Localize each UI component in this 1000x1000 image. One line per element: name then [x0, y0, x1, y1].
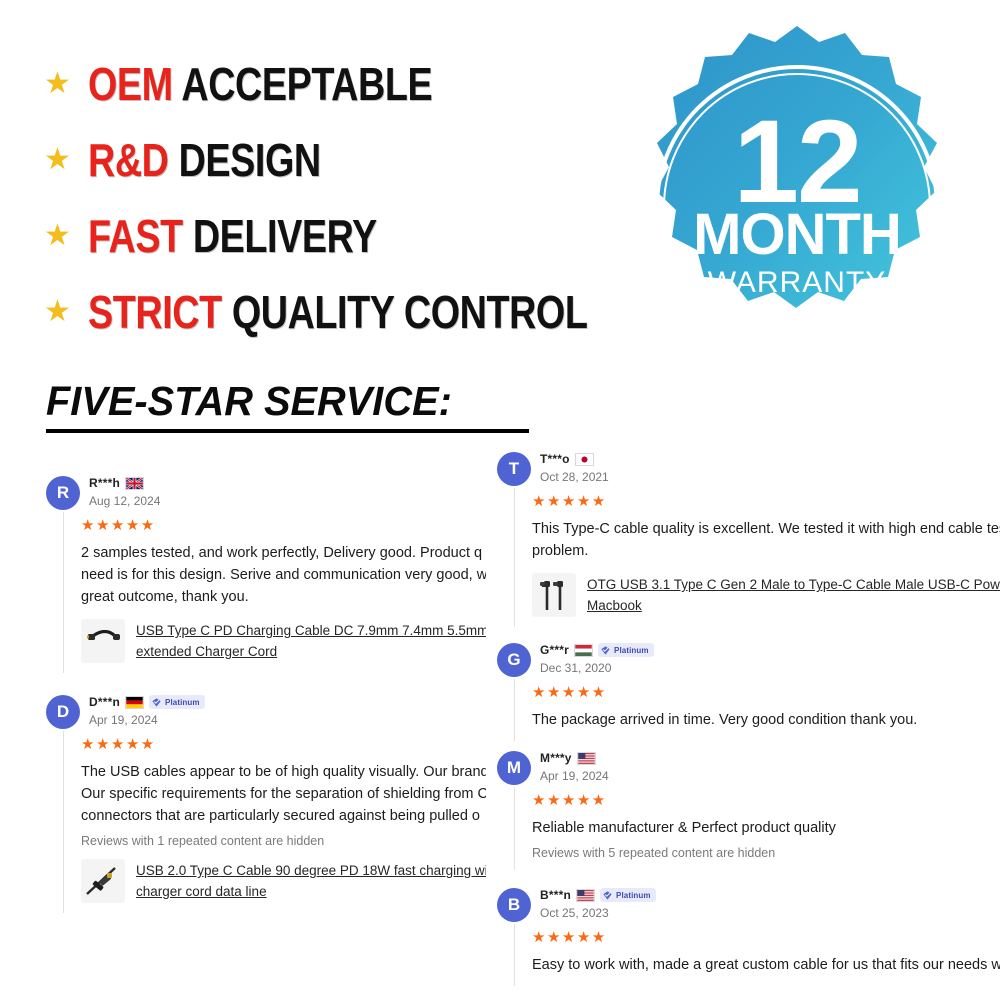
badge-period: MONTH — [693, 202, 901, 267]
review-date: Apr 19, 2024 — [89, 713, 205, 727]
gold-star-icon: ★ — [44, 145, 88, 175]
review-card[interactable]: G G***r Platinum Dec 31, 2020 — [497, 635, 1000, 741]
platinum-label: Platinum — [616, 891, 651, 900]
review-card[interactable]: M M***y Apr 19, 2024 ★★★★★ Reliable manu… — [497, 743, 1000, 870]
review-body: ★★★★★ 2 samples tested, and work perfect… — [63, 512, 486, 673]
product-link[interactable]: USB Type C PD Charging Cable DC 7.9mm 7.… — [136, 619, 486, 662]
product-link[interactable]: OTG USB 3.1 Type C Gen 2 Male to Type-C … — [587, 573, 1000, 616]
feature-bullet-list: ★ OEM ACCEPTABLE ★ R&D DESIGN ★ FAST DEL… — [44, 46, 644, 350]
reviewer-meta: G***r Platinum Dec 31, 2020 — [540, 641, 654, 675]
avatar: D — [46, 695, 80, 729]
feature-bullet-highlight: R&D — [88, 134, 169, 186]
reviewer-meta: T***o Oct 28, 2021 — [540, 450, 609, 484]
title-underline — [46, 429, 529, 433]
review-body: ★★★★★ This Type-C cable quality is excel… — [514, 488, 1000, 627]
gold-star-icon: ★ — [44, 297, 88, 327]
avatar: G — [497, 643, 531, 677]
platinum-badge: Platinum — [600, 888, 656, 902]
reviewer-name-line: T***o — [540, 451, 609, 467]
avatar: R — [46, 476, 80, 510]
platinum-diamond-icon — [602, 890, 613, 901]
reviewer-name-line: B***n Platinum — [540, 887, 656, 903]
feature-bullet-highlight: FAST — [88, 210, 183, 262]
reviewer-name: B***n — [540, 888, 571, 902]
hu-flag-icon — [574, 644, 593, 657]
reviewer-name-line: R***h — [89, 475, 160, 491]
gb-flag-icon — [125, 477, 144, 490]
angled-usbc-cable-icon — [81, 859, 125, 903]
review-date: Oct 28, 2021 — [540, 470, 609, 484]
review-body: ★★★★★ Reliable manufacturer & Perfect pr… — [514, 787, 1000, 870]
feature-bullet-text: OEM ACCEPTABLE — [88, 57, 432, 111]
review-header: G G***r Platinum Dec 31, 2020 — [497, 635, 1000, 679]
reviewer-name-line: G***r Platinum — [540, 642, 654, 658]
platinum-diamond-icon — [151, 697, 162, 708]
review-body: ★★★★★ The USB cables appear to be of hig… — [63, 731, 486, 913]
feature-bullet-rest: QUALITY CONTROL — [232, 286, 588, 338]
review-date: Dec 31, 2020 — [540, 661, 654, 675]
review-header: T T***o Oct 28, 2021 — [497, 444, 1000, 488]
avatar: M — [497, 751, 531, 785]
reviewed-product[interactable]: USB 2.0 Type C Cable 90 degree PD 18W fa… — [81, 848, 486, 903]
gold-star-icon: ★ — [44, 221, 88, 251]
review-card[interactable]: T T***o Oct 28, 2021 ★★★★★ This Type-C c… — [497, 444, 1000, 627]
reviewer-name-line: D***n Platinum — [89, 694, 205, 710]
feature-bullet-rest: DESIGN — [179, 134, 321, 186]
review-header: B B***n Platinum Oct 25, 2023 — [497, 880, 1000, 924]
review-header: D D***n Platinum Apr 19, 2024 — [46, 687, 486, 731]
star-rating: ★★★★★ — [81, 731, 486, 761]
feature-bullet-highlight: STRICT — [88, 286, 222, 338]
reviewer-name-line: M***y — [540, 750, 609, 766]
feature-bullet: ★ FAST DELIVERY — [44, 198, 644, 274]
feature-bullet-rest: DELIVERY — [193, 210, 377, 262]
reviews-section: R R***h Aug 12, 2024 ★★★★★ 2 samples tes… — [0, 440, 1000, 1000]
review-card[interactable]: B B***n Platinum Oct 25, 2023 — [497, 880, 1000, 986]
feature-bullet: ★ R&D DESIGN — [44, 122, 644, 198]
reviewer-meta: R***h Aug 12, 2024 — [89, 474, 160, 508]
star-rating: ★★★★★ — [532, 679, 1000, 709]
hidden-reviews-note: Reviews with 1 repeated content are hidd… — [81, 827, 486, 848]
feature-bullet-rest: ACCEPTABLE — [181, 58, 432, 110]
review-date: Apr 19, 2024 — [540, 769, 609, 783]
feature-bullet-text: R&D DESIGN — [88, 133, 321, 187]
avatar: B — [497, 888, 531, 922]
review-card[interactable]: D D***n Platinum Apr 19, 2024 — [46, 687, 486, 913]
reviewer-meta: M***y Apr 19, 2024 — [540, 749, 609, 783]
feature-bullet: ★ OEM ACCEPTABLE — [44, 46, 644, 122]
reviewed-product[interactable]: USB Type C PD Charging Cable DC 7.9mm 7.… — [81, 608, 486, 663]
avatar: T — [497, 452, 531, 486]
feature-bullet-highlight: OEM — [88, 58, 173, 110]
star-rating: ★★★★★ — [532, 924, 1000, 954]
review-text: Easy to work with, made a great custom c… — [532, 954, 1000, 976]
reviewed-product[interactable]: OTG USB 3.1 Type C Gen 2 Male to Type-C … — [532, 562, 1000, 617]
badge-warranty-label: WARRANTY — [708, 266, 887, 299]
dc-barrel-cable-icon — [81, 619, 125, 663]
reviewer-name: R***h — [89, 476, 120, 490]
star-rating: ★★★★★ — [532, 787, 1000, 817]
platinum-badge: Platinum — [149, 695, 205, 709]
reviewer-name: D***n — [89, 695, 120, 709]
promo-banner-page: ★ OEM ACCEPTABLE ★ R&D DESIGN ★ FAST DEL… — [0, 0, 1000, 1000]
platinum-badge: Platinum — [598, 643, 654, 657]
reviews-column-right: T T***o Oct 28, 2021 ★★★★★ This Type-C c… — [497, 440, 1000, 1000]
review-date: Aug 12, 2024 — [89, 494, 160, 508]
us-flag-icon — [576, 889, 595, 902]
review-body: ★★★★★ The package arrived in time. Very … — [514, 679, 1000, 741]
reviewer-name: M***y — [540, 751, 572, 765]
dual-angled-usbc-icon — [532, 573, 576, 617]
reviews-column-left: R R***h Aug 12, 2024 ★★★★★ 2 samples tes… — [46, 440, 486, 1000]
star-rating: ★★★★★ — [81, 512, 486, 542]
reviewer-meta: B***n Platinum Oct 25, 2023 — [540, 886, 656, 920]
us-flag-icon — [577, 752, 596, 765]
review-card[interactable]: R R***h Aug 12, 2024 ★★★★★ 2 samples tes… — [46, 468, 486, 673]
page-title: FIVE-STAR SERVICE: — [46, 378, 452, 425]
review-date: Oct 25, 2023 — [540, 906, 656, 920]
gold-star-icon: ★ — [44, 69, 88, 99]
review-header: M M***y Apr 19, 2024 — [497, 743, 1000, 787]
platinum-diamond-icon — [600, 645, 611, 656]
reviewer-name: T***o — [540, 452, 570, 466]
review-body: ★★★★★ Easy to work with, made a great cu… — [514, 924, 1000, 986]
star-rating: ★★★★★ — [532, 488, 1000, 518]
feature-bullet: ★ STRICT QUALITY CONTROL — [44, 274, 644, 350]
reviewer-name: G***r — [540, 643, 569, 657]
feature-bullet-text: STRICT QUALITY CONTROL — [88, 285, 587, 339]
hidden-reviews-note: Reviews with 5 repeated content are hidd… — [532, 839, 1000, 860]
review-text: 2 samples tested, and work perfectly, De… — [81, 542, 486, 608]
feature-bullet-text: FAST DELIVERY — [88, 209, 377, 263]
header-section: ★ OEM ACCEPTABLE ★ R&D DESIGN ★ FAST DEL… — [0, 0, 1000, 440]
review-text: This Type-C cable quality is excellent. … — [532, 518, 1000, 562]
platinum-label: Platinum — [614, 646, 649, 655]
de-flag-icon — [125, 696, 144, 709]
product-link[interactable]: USB 2.0 Type C Cable 90 degree PD 18W fa… — [136, 859, 486, 902]
review-text: The USB cables appear to be of high qual… — [81, 761, 486, 827]
review-text: Reliable manufacturer & Perfect product … — [532, 817, 1000, 839]
platinum-label: Platinum — [165, 698, 200, 707]
warranty-badge: 12 MONTH WARRANTY — [622, 22, 972, 392]
review-header: R R***h Aug 12, 2024 — [46, 468, 486, 512]
jp-flag-icon — [575, 453, 594, 466]
reviewer-meta: D***n Platinum Apr 19, 2024 — [89, 693, 205, 727]
review-text: The package arrived in time. Very good c… — [532, 709, 1000, 731]
